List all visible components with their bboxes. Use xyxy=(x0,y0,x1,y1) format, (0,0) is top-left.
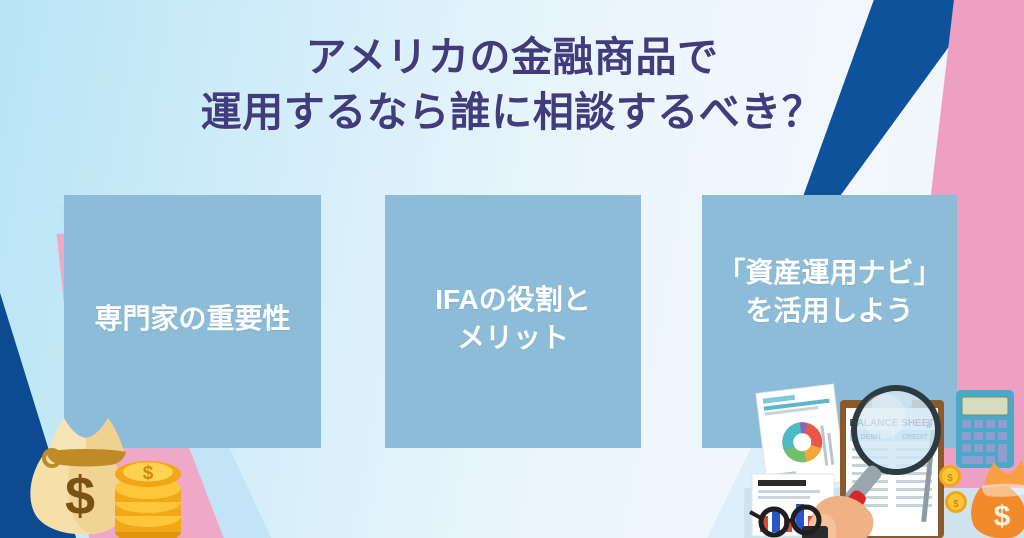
page-title-line-1: アメリカの金融商品で xyxy=(0,30,1024,85)
money-bag-dollar-symbol: $ xyxy=(994,500,1011,533)
topic-card-label: 「資産運用ナビ」 を活用しよう xyxy=(717,254,941,330)
money-bag-icon: $ $ xyxy=(14,408,184,538)
money-bag-shape: $ xyxy=(30,418,128,534)
topic-card-label: 専門家の重要性 xyxy=(94,300,290,338)
calculator-icon xyxy=(956,390,1014,468)
coin-dollar-symbol: $ xyxy=(953,499,959,510)
money-bag-dollar-symbol: $ xyxy=(65,466,95,526)
coin-icon-upper: $ xyxy=(939,465,961,487)
page-title: アメリカの金融商品で 運用するなら誰に相談するべき？ xyxy=(0,30,1024,140)
coin-stack-shape: $ xyxy=(115,461,181,538)
page-title-line-2: 運用するなら誰に相談するべき？ xyxy=(0,85,1024,140)
infographic-banner: アメリカの金融商品で 運用するなら誰に相談するべき？ 専門家の重要性 IFAの役… xyxy=(0,0,1024,538)
coin-icon-lower: $ xyxy=(945,491,967,513)
topic-card-label: IFAの役割と メリット xyxy=(435,281,591,357)
financial-audit-illustration: BALANCE SHEET DEBIT CREDIT xyxy=(744,370,1024,538)
coin-dollar-symbol: $ xyxy=(947,473,953,484)
coin-dollar-symbol: $ xyxy=(143,463,154,484)
money-bag-icon-right: $ xyxy=(971,460,1024,538)
topic-card-ifa-role[interactable]: IFAの役割と メリット xyxy=(385,195,641,448)
